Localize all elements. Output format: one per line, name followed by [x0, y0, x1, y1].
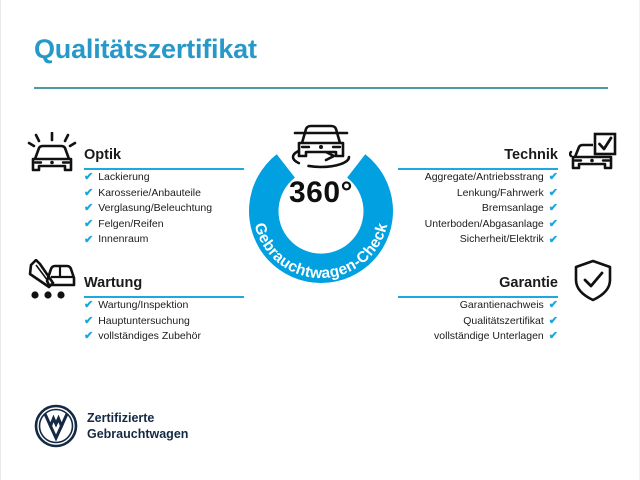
- check-icon: ✔: [84, 172, 93, 183]
- footer-brand-text: Zertifizierte Gebrauchtwagen: [87, 410, 188, 442]
- list-item: ✔Lackierung: [84, 170, 244, 186]
- check-icon: ✔: [549, 316, 558, 327]
- section-title-wartung: Wartung: [84, 275, 142, 291]
- list-item-label: Sicherheit/Elektrik: [460, 232, 544, 248]
- list-item-label: Felgen/Reifen: [98, 217, 163, 233]
- header-divider: [34, 87, 608, 89]
- section-header: Technik: [398, 140, 558, 170]
- footer-line-1: Zertifizierte: [87, 410, 188, 426]
- check-icon: ✔: [84, 219, 93, 230]
- list-item: ✔vollständiges Zubehör: [84, 329, 244, 345]
- list-item: ✔Innenraum: [84, 232, 244, 248]
- section-header: Optik: [84, 140, 244, 170]
- list-item: ✔vollständige Unterlagen: [398, 329, 558, 345]
- section-header: Wartung: [84, 268, 244, 298]
- car-checkbox-icon: [569, 132, 617, 181]
- list-item: ✔Garantienachweis: [398, 298, 558, 314]
- list-item: ✔Unterboden/Abgasanlage: [398, 217, 558, 233]
- page-title: Qualitätszertifikat: [34, 34, 257, 65]
- volkswagen-logo: [34, 404, 78, 448]
- list-item: ✔Verglasung/Beleuchtung: [84, 201, 244, 217]
- section-wartung: Wartung ✔Wartung/Inspektion ✔Hauptunters…: [84, 268, 244, 345]
- check-icon: ✔: [549, 203, 558, 214]
- list-item-label: Garantienachweis: [460, 298, 544, 314]
- section-rule: [84, 296, 244, 298]
- list-item: ✔Aggregate/Antriebsstrang: [398, 170, 558, 186]
- check-icon: ✔: [84, 235, 93, 246]
- list-item-label: Unterboden/Abgasanlage: [425, 217, 544, 233]
- checklist-optik: ✔Lackierung ✔Karosserie/Anbauteile ✔Verg…: [84, 170, 244, 248]
- check-icon: ✔: [84, 331, 93, 342]
- car-rotate-360-icon: [285, 116, 357, 179]
- section-technik: Technik ✔Aggregate/Antriebsstrang ✔Lenku…: [398, 140, 558, 248]
- check-icon: ✔: [84, 188, 93, 199]
- section-title-technik: Technik: [504, 147, 558, 163]
- list-item-label: Karosserie/Anbauteile: [98, 186, 201, 202]
- section-header: Garantie: [398, 268, 558, 298]
- list-item-label: Innenraum: [98, 232, 148, 248]
- list-item: ✔Hauptuntersuchung: [84, 314, 244, 330]
- section-rule: [84, 168, 244, 170]
- list-item-label: Verglasung/Beleuchtung: [98, 201, 212, 217]
- checklist-garantie: ✔Garantienachweis ✔Qualitätszertifikat ✔…: [398, 298, 558, 345]
- section-rule: [398, 168, 558, 170]
- check-icon: ✔: [549, 188, 558, 199]
- shield-check-icon: [573, 259, 613, 308]
- check-icon: ✔: [549, 219, 558, 230]
- check-icon: ✔: [549, 172, 558, 183]
- badge-360-gebrauchtwagen-check: Gebrauchtwagen-Check 360°: [229, 118, 413, 302]
- section-title-optik: Optik: [84, 147, 121, 163]
- section-title-garantie: Garantie: [499, 275, 558, 291]
- list-item-label: Lenkung/Fahrwerk: [457, 186, 544, 202]
- list-item-label: Wartung/Inspektion: [98, 298, 188, 314]
- checklist-wartung: ✔Wartung/Inspektion ✔Hauptuntersuchung ✔…: [84, 298, 244, 345]
- footer-line-2: Gebrauchtwagen: [87, 426, 188, 442]
- check-icon: ✔: [549, 300, 558, 311]
- check-icon: ✔: [84, 316, 93, 327]
- check-icon: ✔: [84, 203, 93, 214]
- section-rule: [398, 296, 558, 298]
- list-item-label: Aggregate/Antriebsstrang: [425, 170, 544, 186]
- section-garantie: Garantie ✔Garantienachweis ✔Qualitätszer…: [398, 268, 558, 345]
- check-icon: ✔: [84, 300, 93, 311]
- list-item: ✔Karosserie/Anbauteile: [84, 186, 244, 202]
- list-item-label: Hauptuntersuchung: [98, 314, 190, 330]
- certificate-page: Qualitätszertifikat: [0, 0, 640, 480]
- wrench-car-service-icon: [27, 259, 79, 306]
- list-item: ✔Lenkung/Fahrwerk: [398, 186, 558, 202]
- check-icon: ✔: [549, 331, 558, 342]
- list-item-label: Lackierung: [98, 170, 149, 186]
- list-item-label: Qualitätszertifikat: [463, 314, 544, 330]
- list-item: ✔Bremsanlage: [398, 201, 558, 217]
- check-icon: ✔: [549, 235, 558, 246]
- list-item-label: vollständiges Zubehör: [98, 329, 201, 345]
- list-item-label: Bremsanlage: [482, 201, 544, 217]
- list-item-label: vollständige Unterlagen: [434, 329, 544, 345]
- shiny-car-icon: [27, 132, 77, 181]
- list-item: ✔Felgen/Reifen: [84, 217, 244, 233]
- list-item: ✔Sicherheit/Elektrik: [398, 232, 558, 248]
- checklist-technik: ✔Aggregate/Antriebsstrang ✔Lenkung/Fahrw…: [398, 170, 558, 248]
- list-item: ✔Wartung/Inspektion: [84, 298, 244, 314]
- section-optik: Optik ✔Lackierung ✔Karosserie/Anbauteile…: [84, 140, 244, 248]
- list-item: ✔Qualitätszertifikat: [398, 314, 558, 330]
